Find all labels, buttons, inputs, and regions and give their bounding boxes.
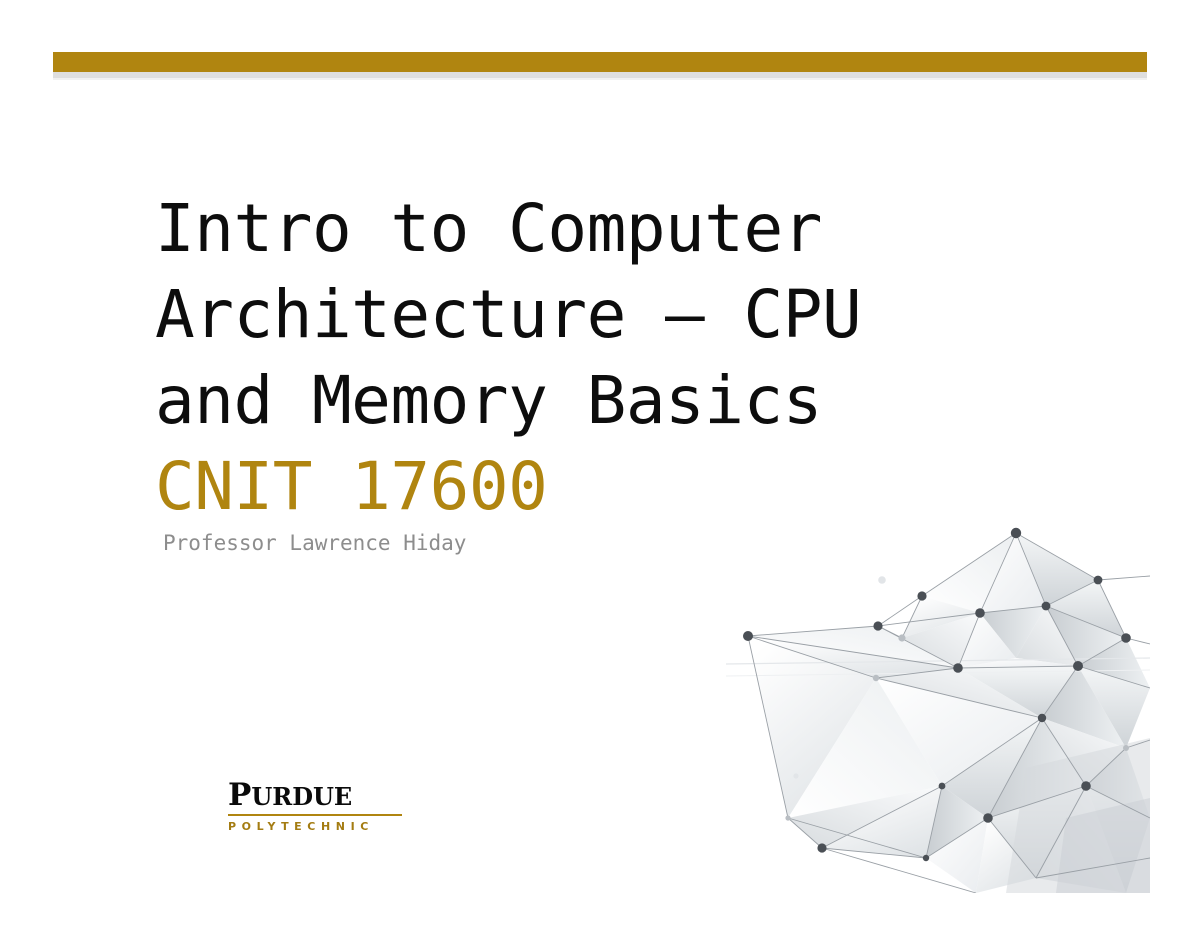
title-line-3: and Memory Basics xyxy=(155,358,985,444)
title-block: Intro to Computer Architecture – CPU and… xyxy=(155,186,985,530)
logo-gold-rule xyxy=(228,814,402,816)
title-line-2: Architecture – CPU xyxy=(155,272,985,358)
low-poly-network-graphic xyxy=(726,518,1150,893)
top-accent-bar xyxy=(53,52,1147,78)
presentation-title-slide: Intro to Computer Architecture – CPU and… xyxy=(0,0,1200,927)
title-line-1: Intro to Computer xyxy=(155,186,985,272)
purdue-wordmark: PURDUE xyxy=(228,779,402,813)
purdue-wordmark-initial: P xyxy=(228,777,251,813)
accent-bar-shadow-fade xyxy=(53,78,1147,80)
top-gold-rule xyxy=(53,52,1147,72)
presenter-name: Professor Lawrence Hiday xyxy=(163,530,466,556)
purdue-polytechnic-logo: PURDUE POLYTECHNIC xyxy=(228,779,402,835)
logo-division-label: POLYTECHNIC xyxy=(228,819,402,835)
purdue-wordmark-rest: URDUE xyxy=(251,782,352,811)
